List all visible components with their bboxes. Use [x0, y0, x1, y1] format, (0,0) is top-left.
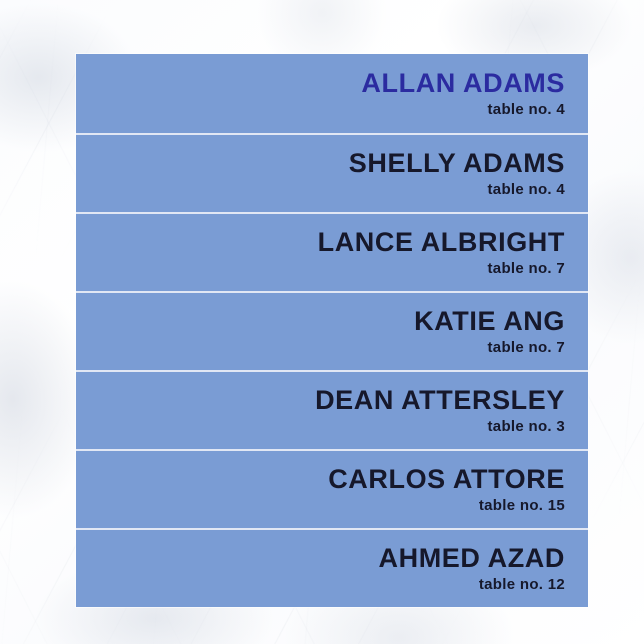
guest-table-number: table no. 7: [488, 340, 565, 356]
guest-name: SHELLY ADAMS: [349, 149, 565, 177]
guest-row[interactable]: CARLOS ATTORE table no. 15: [76, 449, 588, 528]
guest-table-number: table no. 15: [479, 498, 565, 514]
guest-name: LANCE ALBRIGHT: [318, 228, 565, 256]
guest-name: ALLAN ADAMS: [361, 69, 565, 97]
guest-row[interactable]: KATIE ANG table no. 7: [76, 291, 588, 370]
guest-table-number: table no. 12: [479, 577, 565, 593]
guest-table-number: table no. 4: [488, 182, 565, 198]
guest-name: DEAN ATTERSLEY: [315, 386, 565, 414]
guest-row[interactable]: AHMED AZAD table no. 12: [76, 528, 588, 606]
guest-table-number: table no. 4: [488, 102, 565, 118]
guest-name: AHMED AZAD: [379, 544, 565, 572]
guest-name: CARLOS ATTORE: [328, 465, 565, 493]
guest-table-number: table no. 3: [488, 419, 565, 435]
seating-chart-panel: ALLAN ADAMS table no. 4 SHELLY ADAMS tab…: [76, 54, 588, 607]
guest-table-number: table no. 7: [488, 261, 565, 277]
seating-chart-page: ALLAN ADAMS table no. 4 SHELLY ADAMS tab…: [0, 0, 644, 644]
guest-row[interactable]: SHELLY ADAMS table no. 4: [76, 133, 588, 212]
guest-row[interactable]: LANCE ALBRIGHT table no. 7: [76, 212, 588, 291]
guest-row[interactable]: ALLAN ADAMS table no. 4: [76, 54, 588, 133]
guest-name: KATIE ANG: [414, 307, 565, 335]
guest-row[interactable]: DEAN ATTERSLEY table no. 3: [76, 370, 588, 449]
